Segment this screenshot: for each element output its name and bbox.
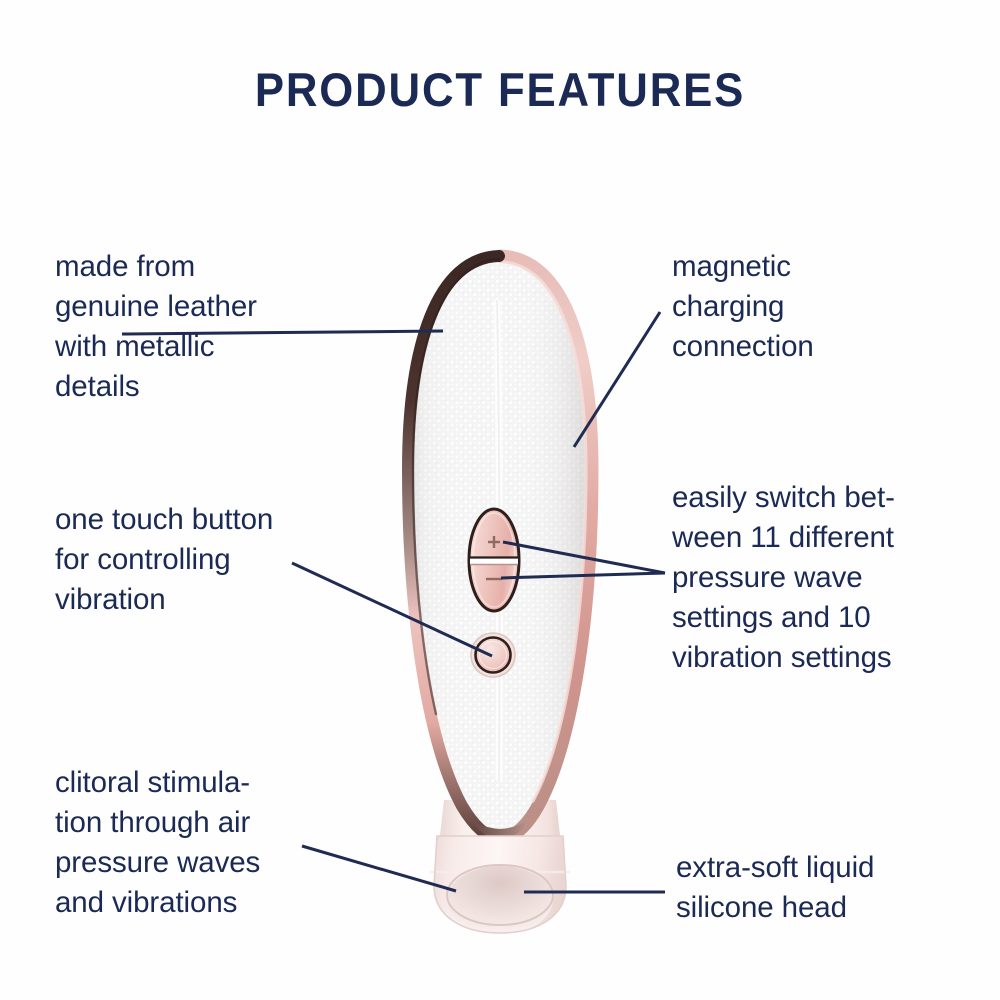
callout-label-silicone-head: extra-soft liquid silicone head [676, 848, 976, 928]
plus-minus-rocker-button[interactable] [469, 509, 519, 611]
callout-label-magnetic-charging: magnetic charging connection [672, 247, 972, 367]
power-button-surface[interactable] [476, 638, 511, 673]
callout-label-clitoral-stimulation: clitoral stimula- tion through air press… [55, 763, 355, 923]
callout-label-leather: made from genuine leather with metallic … [55, 247, 355, 407]
air-pressure-opening [447, 866, 553, 934]
callout-label-one-touch-button: one touch button for controlling vibrati… [55, 500, 365, 620]
silicone-head [428, 836, 572, 934]
power-button[interactable] [471, 633, 515, 677]
infographic-canvas: PRODUCT FEATURES [0, 0, 1000, 1000]
product-body [404, 256, 596, 934]
callout-label-settings: easily switch bet- ween 11 different pre… [672, 478, 972, 678]
